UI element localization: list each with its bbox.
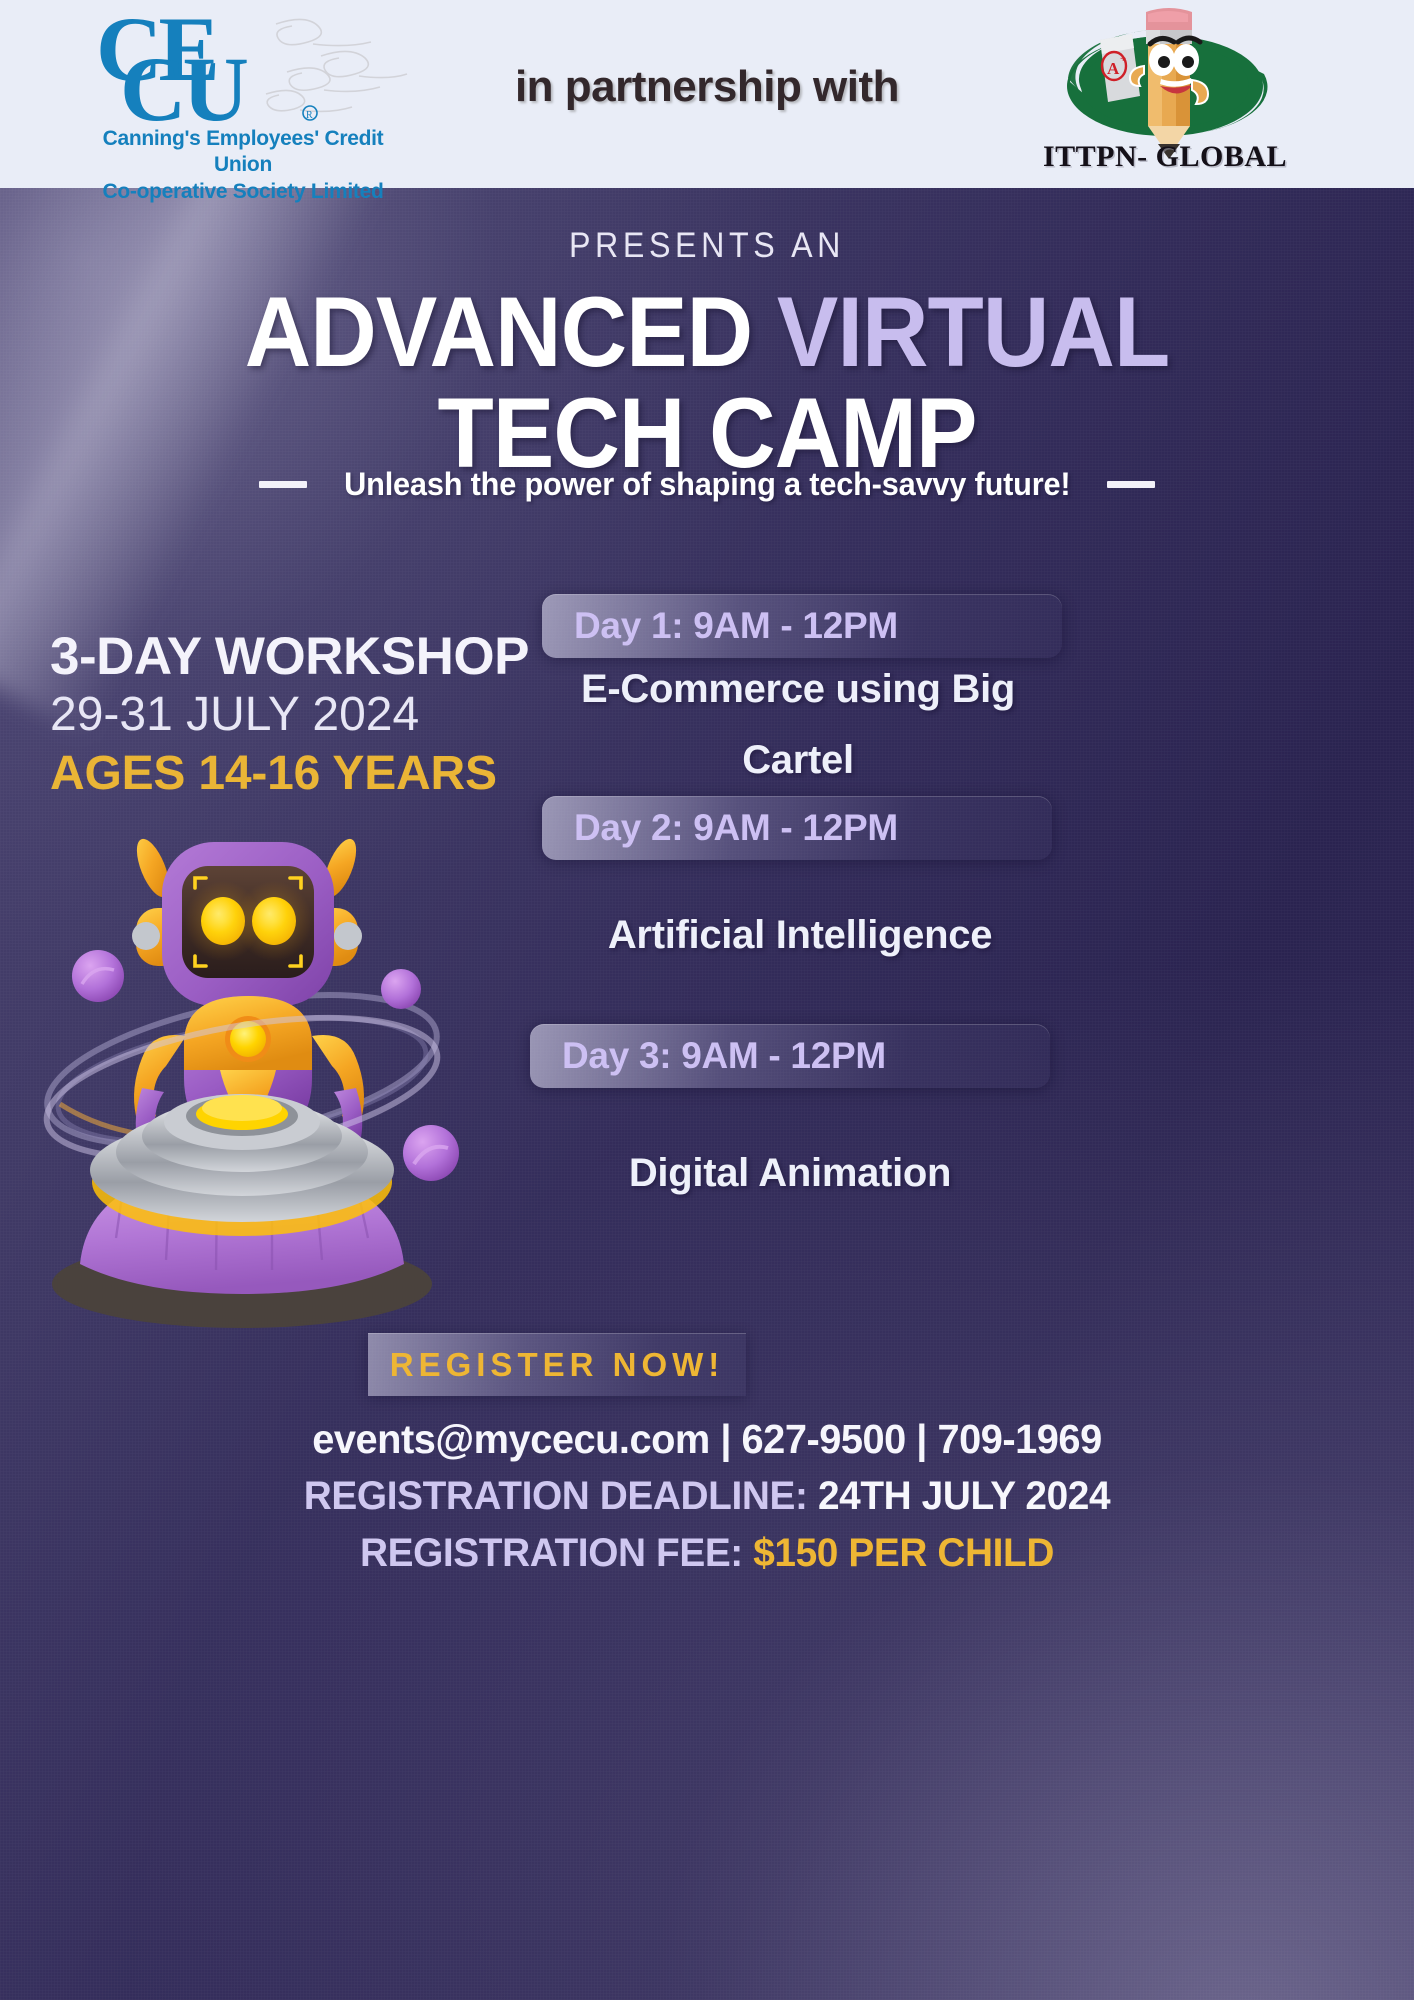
cecu-logo-text: Canning's Employees' Credit Union Co-ope…	[78, 126, 408, 205]
day-2-time-pill: Day 2: 9AM - 12PM	[542, 796, 1052, 860]
fee-value: $150 PER CHILD	[743, 1531, 1054, 1575]
day-1-time-label: Day 1: 9AM - 12PM	[542, 605, 898, 647]
day-3-topic: Digital Animation	[530, 1138, 1050, 1209]
register-now-button[interactable]: REGISTER NOW!	[368, 1333, 746, 1396]
deadline-value: 24TH JULY 2024	[808, 1474, 1111, 1518]
footer-contact-block: events@mycecu.com | 627-9500 | 709-1969 …	[0, 1410, 1414, 1582]
register-now-label: REGISTER NOW!	[390, 1346, 725, 1384]
svg-text:+: +	[1120, 53, 1126, 65]
deadline-line: REGISTRATION DEADLINE: 24TH JULY 2024	[21, 1468, 1393, 1525]
cecu-name-line2: Co-operative Society Limited	[78, 179, 408, 205]
day-3-time-pill: Day 3: 9AM - 12PM	[530, 1024, 1050, 1088]
day-3-time-label: Day 3: 9AM - 12PM	[530, 1035, 886, 1077]
ittpn-logo-text: ITTPN- GLOBAL	[1015, 140, 1315, 174]
partner-bar: CE CU R Canning's Employees' Credit Unio…	[0, 0, 1414, 188]
poster-body: PRESENTS AN ADVANCED VIRTUAL TECH CAMP U…	[0, 188, 1414, 2000]
contact-line: events@mycecu.com | 627-9500 | 709-1969	[21, 1410, 1393, 1468]
deadline-label: REGISTRATION DEADLINE:	[304, 1474, 808, 1518]
day-1-time-pill: Day 1: 9AM - 12PM	[542, 594, 1062, 658]
cecu-name-line1: Canning's Employees' Credit Union	[78, 126, 408, 179]
day-2-topic: Artificial Intelligence	[540, 900, 1060, 971]
fee-line: REGISTRATION FEE: $150 PER CHILD	[21, 1525, 1393, 1582]
schedule-list: Day 1: 9AM - 12PM E-Commerce using Big C…	[0, 188, 1414, 2000]
svg-text:A: A	[1107, 59, 1120, 78]
day-1-topic: E-Commerce using Big Cartel	[528, 654, 1068, 796]
fee-label: REGISTRATION FEE:	[360, 1531, 743, 1575]
day-2-time-label: Day 2: 9AM - 12PM	[542, 807, 898, 849]
